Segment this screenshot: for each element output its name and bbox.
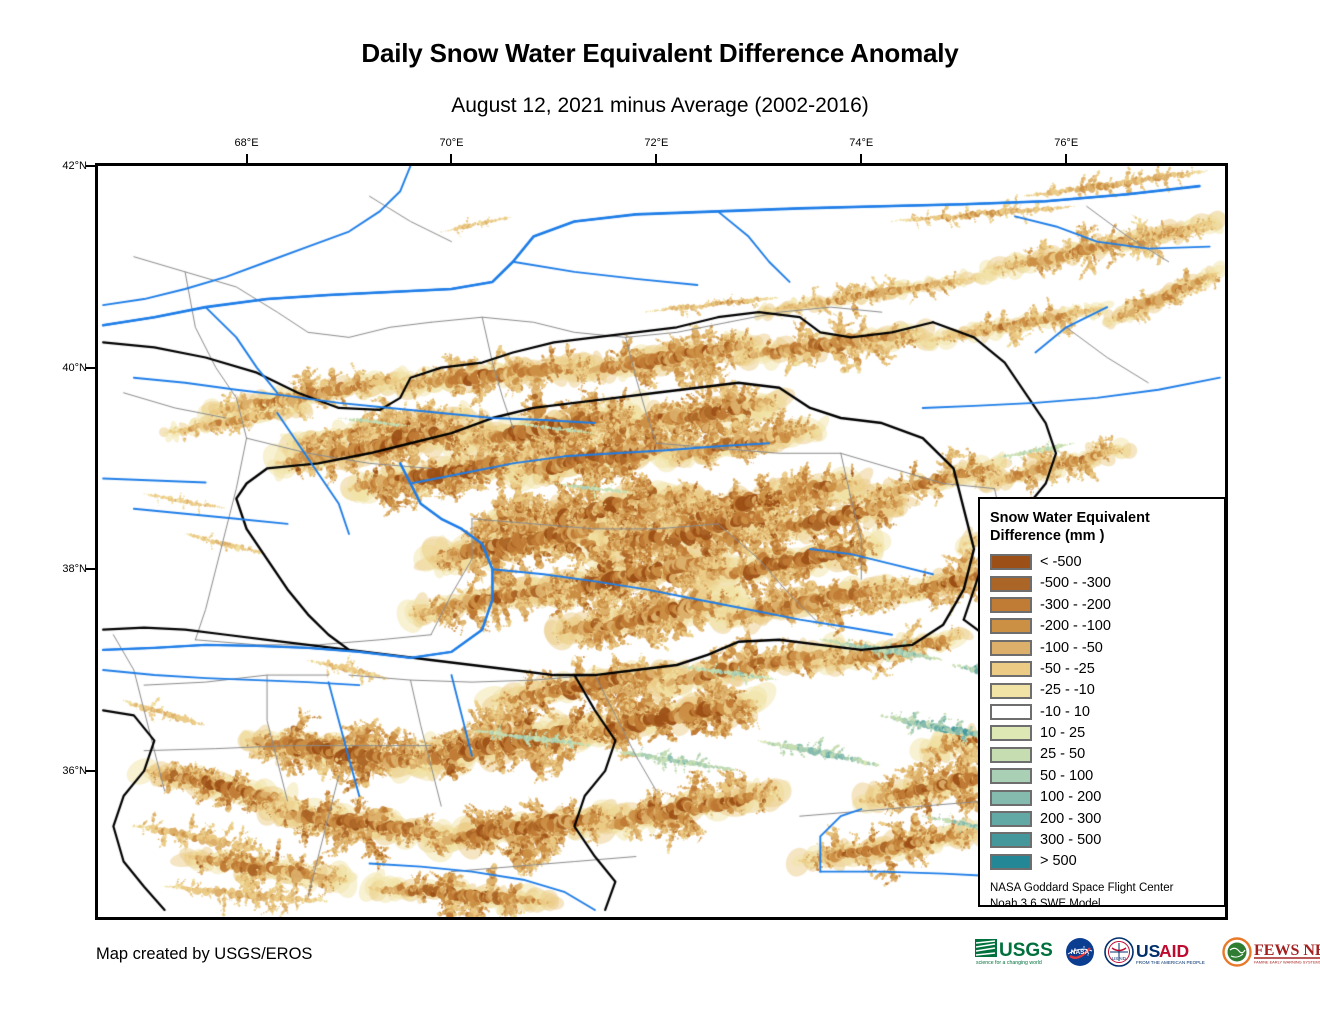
fewsnet-logo: FEWS NET FAMINE EARLY WARNING SYSTEMS NE… — [1222, 935, 1320, 969]
legend-source-line2: Noah 3.6 SWE Model. — [990, 898, 1104, 910]
svg-text:FEWS NET: FEWS NET — [1254, 942, 1320, 959]
legend-row: 100 - 200 — [990, 787, 1224, 808]
legend-label: 200 - 300 — [1040, 812, 1101, 827]
legend-row: 300 - 500 — [990, 830, 1224, 851]
legend-swatch — [990, 640, 1032, 656]
lon-tick-label: 70°E — [439, 137, 463, 149]
legend-title-line2: Difference (mm ) — [990, 528, 1104, 544]
legend-label: -300 - -200 — [1040, 598, 1111, 613]
nasa-logo: NASA — [1064, 935, 1096, 969]
legend-row: -50 - -25 — [990, 658, 1224, 679]
legend-row: 50 - 100 — [990, 765, 1224, 786]
legend-label: 300 - 500 — [1040, 833, 1101, 848]
svg-text:US: US — [1136, 941, 1160, 961]
legend-swatch — [990, 768, 1032, 784]
legend-label: 50 - 100 — [1040, 769, 1093, 784]
lat-tick-label: 42°N — [43, 160, 87, 172]
legend-row: -500 - -300 — [990, 573, 1224, 594]
legend-swatch — [990, 618, 1032, 634]
legend-swatch — [990, 704, 1032, 720]
svg-text:NASA: NASA — [1071, 949, 1090, 956]
lat-tick-mark — [86, 165, 95, 167]
legend-row: -25 - -10 — [990, 680, 1224, 701]
svg-text:AID: AID — [1159, 941, 1189, 961]
svg-text:science for a changing world: science for a changing world — [976, 960, 1042, 966]
legend-swatch — [990, 747, 1032, 763]
legend-row: > 500 — [990, 851, 1224, 872]
legend-label: -50 - -25 — [1040, 662, 1095, 677]
legend-row: 10 - 25 — [990, 723, 1224, 744]
lon-tick-label: 68°E — [235, 137, 259, 149]
svg-text:FAMINE EARLY WARNING SYSTEMS N: FAMINE EARLY WARNING SYSTEMS NETWORK — [1254, 960, 1320, 965]
lon-tick-mark — [246, 154, 248, 163]
lat-tick-label: 38°N — [43, 563, 87, 575]
page-title: Daily Snow Water Equivalent Difference A… — [0, 38, 1320, 69]
legend-row: -10 - 10 — [990, 701, 1224, 722]
legend-swatch — [990, 725, 1032, 741]
legend-title: Snow Water Equivalent Difference (mm ) — [990, 509, 1205, 546]
usaid-logo: USAID US AID FROM THE AMERICAN PEOPLE — [1103, 935, 1215, 969]
legend-swatch — [990, 683, 1032, 699]
legend-label: -500 - -300 — [1040, 576, 1111, 591]
usgs-logo: USGS science for a changing world — [975, 935, 1057, 969]
legend-label: < -500 — [1040, 555, 1082, 570]
legend-label: 100 - 200 — [1040, 790, 1101, 805]
lon-tick-label: 76°E — [1054, 137, 1078, 149]
svg-text:USAID: USAID — [1112, 956, 1127, 961]
legend-swatch — [990, 661, 1032, 677]
legend-entries: < -500-500 - -300-300 - -200-200 - -100-… — [990, 552, 1224, 873]
legend-swatch — [990, 811, 1032, 827]
legend-label: > 500 — [1040, 854, 1077, 869]
legend-swatch — [990, 790, 1032, 806]
legend-swatch — [990, 554, 1032, 570]
legend-row: 200 - 300 — [990, 808, 1224, 829]
legend-swatch — [990, 576, 1032, 592]
legend-swatch — [990, 832, 1032, 848]
legend-label: -200 - -100 — [1040, 619, 1111, 634]
lon-tick-label: 72°E — [644, 137, 668, 149]
lon-tick-mark — [860, 154, 862, 163]
lat-tick-label: 36°N — [43, 765, 87, 777]
agency-logos: USGS science for a changing world NASA — [975, 934, 1320, 970]
legend-label: 25 - 50 — [1040, 747, 1085, 762]
lon-tick-label: 74°E — [849, 137, 873, 149]
legend-swatch — [990, 854, 1032, 870]
svg-text:FROM THE AMERICAN PEOPLE: FROM THE AMERICAN PEOPLE — [1136, 960, 1205, 965]
legend-row: 25 - 50 — [990, 744, 1224, 765]
lat-tick-label: 40°N — [43, 362, 87, 374]
legend-row: < -500 — [990, 552, 1224, 573]
legend-label: -100 - -50 — [1040, 641, 1103, 656]
lat-tick-mark — [86, 367, 95, 369]
legend-source-line1: NASA Goddard Space Flight Center — [990, 882, 1173, 894]
legend-title-line1: Snow Water Equivalent — [990, 510, 1150, 526]
svg-text:USGS: USGS — [999, 940, 1053, 961]
legend-swatch — [990, 597, 1032, 613]
lon-tick-mark — [450, 154, 452, 163]
lon-tick-mark — [1065, 154, 1067, 163]
lon-tick-mark — [655, 154, 657, 163]
legend-row: -300 - -200 — [990, 594, 1224, 615]
legend-label: 10 - 25 — [1040, 726, 1085, 741]
legend-row: -100 - -50 — [990, 637, 1224, 658]
legend-row: -200 - -100 — [990, 616, 1224, 637]
lat-tick-mark — [86, 770, 95, 772]
legend-label: -25 - -10 — [1040, 683, 1095, 698]
page-subtitle: August 12, 2021 minus Average (2002-2016… — [0, 94, 1320, 118]
lat-tick-mark — [86, 568, 95, 570]
legend-source: NASA Goddard Space Flight Center Noah 3.… — [990, 881, 1210, 913]
legend-panel: Snow Water Equivalent Difference (mm ) <… — [978, 497, 1226, 907]
legend-label: -10 - 10 — [1040, 705, 1090, 720]
map-credit: Map created by USGS/EROS — [96, 945, 312, 964]
